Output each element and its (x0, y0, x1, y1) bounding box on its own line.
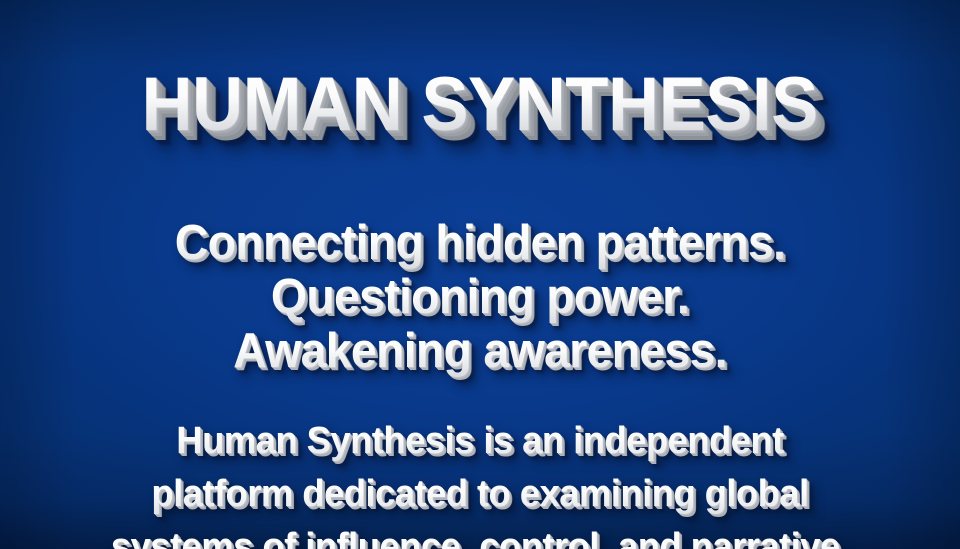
title-block: HUMAN SYNTHESIS (0, 14, 960, 195)
body-paragraph: Human Synthesis is an independent platfo… (0, 415, 960, 549)
body-line-1: Human Synthesis is an independent (19, 415, 941, 468)
body-line-3: systems of influence, control, and narra… (19, 521, 941, 549)
poster-canvas: HUMAN SYNTHESIS Connecting hidden patter… (0, 0, 960, 549)
page-title: HUMAN SYNTHESIS (142, 65, 818, 144)
subtitle-line-1: Connecting hidden patterns. (24, 217, 936, 271)
subtitle-block: Connecting hidden patterns. Questioning … (0, 217, 960, 379)
body-line-2: platform dedicated to examining global (19, 468, 941, 521)
subtitle-line-2: Questioning power. (24, 271, 936, 325)
subtitle-line-3: Awakening awareness. (24, 325, 936, 379)
